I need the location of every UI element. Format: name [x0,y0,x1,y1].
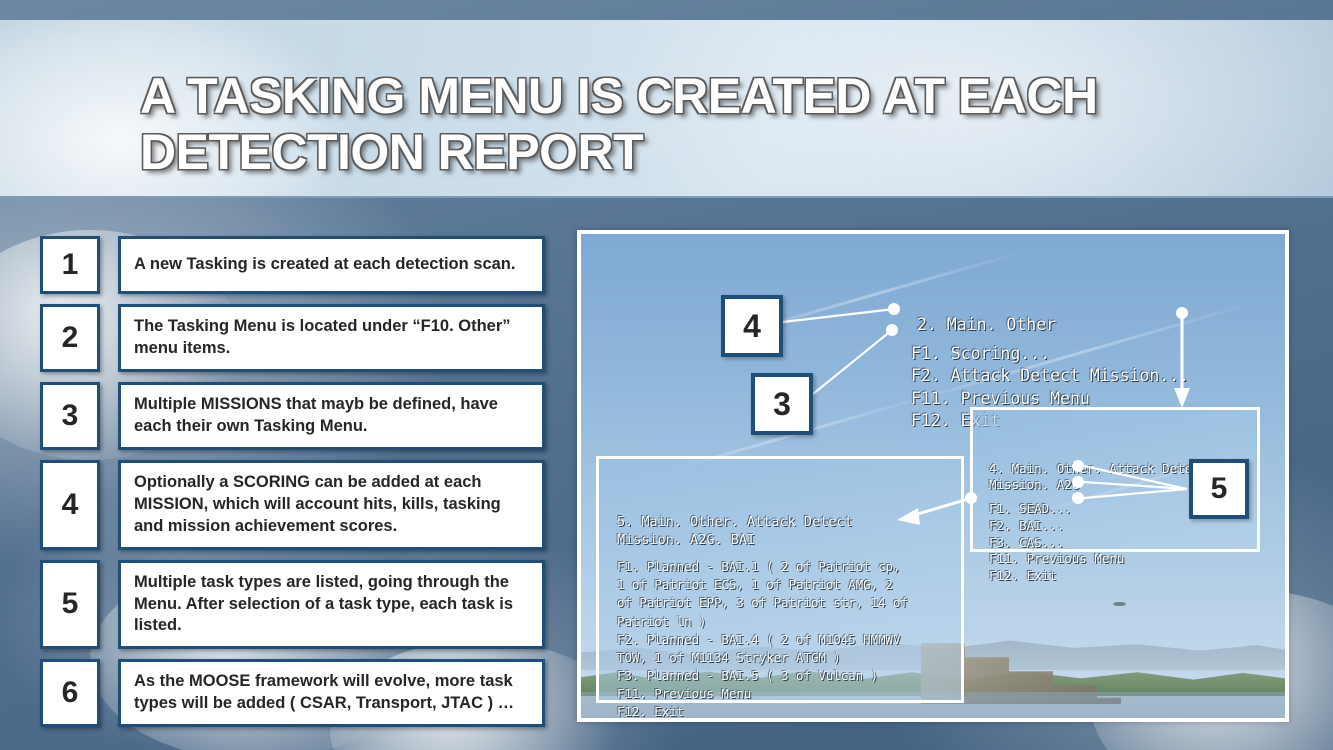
list-item: 6 As the MOOSE framework will evolve, mo… [40,659,545,727]
numbered-bullet-list: 1 A new Tasking is created at each detec… [40,236,545,737]
bullet-text: The Tasking Menu is located under “F10. … [118,304,545,372]
menu-title: 4. Main. Other. Attack Detect Mission. A… [989,461,1207,495]
bullet-text: A new Tasking is created at each detecti… [118,236,545,294]
aircraft-silhouette-icon [1113,602,1126,606]
menu-title: 5. Main. Other. Attack Detect Mission. A… [617,513,908,549]
bullet-number-badge: 2 [40,304,100,372]
list-item: 5 Multiple task types are listed, going … [40,560,545,650]
game-screenshot-inset: 2. Main. OtherF1. Scoring... F2. Attack … [577,230,1289,722]
bullet-number-badge: 3 [40,382,100,450]
menu-bai: 5. Main. Other. Attack Detect Mission. A… [617,477,908,722]
bullet-number-badge: 6 [40,659,100,727]
bullet-text: Multiple task types are listed, going th… [118,560,545,650]
menu-items: F1. Planned - BAI.1 ( 2 of Patriot cp, 1… [617,559,908,719]
connector-dot-attack-detect [886,324,898,336]
list-item: 1 A new Tasking is created at each detec… [40,236,545,294]
bullet-text: As the MOOSE framework will evolve, more… [118,659,545,727]
bullet-number-badge: 4 [40,460,100,550]
menu-title: 2. Main. Other [911,314,1189,336]
menu-items: F1. SEAD... F2. BAI... F3. CAS... F11. P… [989,501,1124,583]
connector-dot-scoring [888,303,900,315]
title-banner: A TASKING MENU IS CREATED AT EACH DETECT… [0,20,1333,198]
callout-badge-3: 3 [751,373,813,435]
callout-badge-4: 4 [721,295,783,357]
bullet-text: Optionally a SCORING can be added at eac… [118,460,545,550]
panel-bai-menu: 5. Main. Other. Attack Detect Mission. A… [596,456,964,703]
connector-line-3 [813,330,892,394]
list-item: 2 The Tasking Menu is located under “F10… [40,304,545,372]
page-title: A TASKING MENU IS CREATED AT EACH DETECT… [140,68,1200,180]
list-item: 3 Multiple MISSIONS that mayb be defined… [40,382,545,450]
callout-badge-5: 5 [1189,459,1249,519]
bullet-number-badge: 5 [40,560,100,650]
list-item: 4 Optionally a SCORING can be added at e… [40,460,545,550]
slide-canvas: A TASKING MENU IS CREATED AT EACH DETECT… [0,0,1333,750]
bullet-number-badge: 1 [40,236,100,294]
connector-line-4 [783,309,894,322]
bullet-text: Multiple MISSIONS that mayb be defined, … [118,382,545,450]
menu-a2g: 4. Main. Other. Attack Detect Mission. A… [989,427,1207,602]
